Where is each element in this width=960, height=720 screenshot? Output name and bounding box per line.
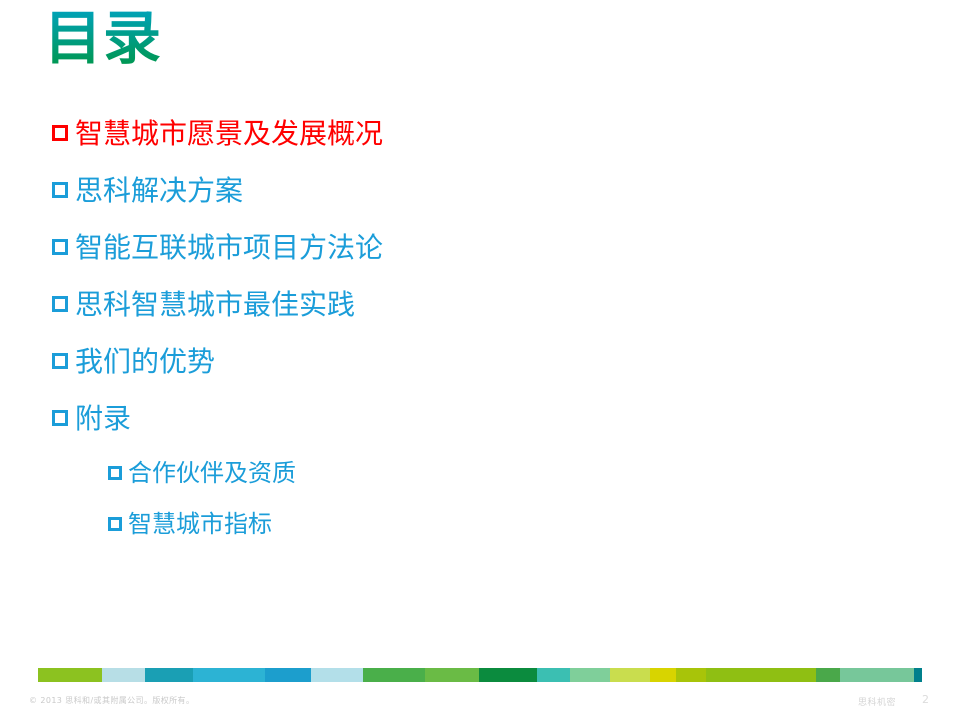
color-strip-block — [193, 668, 265, 682]
confidentiality-label: 思科机密 — [858, 697, 896, 709]
hollow-square-bullet-icon — [52, 410, 68, 426]
hollow-square-bullet-icon — [108, 466, 122, 480]
color-strip-block — [706, 668, 816, 682]
page-number: 2 — [922, 693, 929, 707]
color-strip-block — [840, 668, 914, 682]
color-strip-block — [816, 668, 840, 682]
toc-subitem[interactable]: 智慧城市指标 — [108, 511, 912, 538]
color-strip-block — [479, 668, 537, 682]
presentation-slide: 目录 智慧城市愿景及发展概况 思科解决方案 智能互联城市项目方法论 思科智慧城市… — [0, 0, 960, 720]
toc-item-label: 我们的优势 — [75, 346, 215, 377]
hollow-square-bullet-icon — [52, 182, 68, 198]
toc-item[interactable]: 智慧城市愿景及发展概况 — [52, 118, 912, 149]
hollow-square-bullet-icon — [108, 517, 122, 531]
toc-item[interactable]: 思科解决方案 — [52, 175, 912, 206]
toc-item-label: 智能互联城市项目方法论 — [75, 232, 383, 263]
color-strip-block — [914, 668, 922, 682]
color-strip-block — [425, 668, 479, 682]
page-title: 目录 — [44, 4, 162, 72]
toc-item[interactable]: 我们的优势 — [52, 346, 912, 377]
color-strip-block — [570, 668, 610, 682]
table-of-contents: 智慧城市愿景及发展概况 思科解决方案 智能互联城市项目方法论 思科智慧城市最佳实… — [52, 118, 912, 562]
hollow-square-bullet-icon — [52, 353, 68, 369]
toc-item[interactable]: 智能互联城市项目方法论 — [52, 232, 912, 263]
toc-item-label: 智慧城市愿景及发展概况 — [75, 118, 383, 149]
color-strip-block — [363, 668, 425, 682]
toc-subitem-label: 合作伙伴及资质 — [128, 460, 296, 487]
color-strip-block — [145, 668, 193, 682]
toc-item[interactable]: 附录 — [52, 403, 912, 434]
toc-item-label: 附录 — [75, 403, 131, 434]
footer-color-strip — [38, 668, 922, 682]
hollow-square-bullet-icon — [52, 239, 68, 255]
copyright-text: © 2013 思科和/或其附属公司。版权所有。 — [29, 695, 194, 707]
hollow-square-bullet-icon — [52, 296, 68, 312]
toc-item-label: 思科解决方案 — [75, 175, 243, 206]
color-strip-block — [102, 668, 145, 682]
color-strip-block — [265, 668, 311, 682]
toc-item[interactable]: 思科智慧城市最佳实践 — [52, 289, 912, 320]
color-strip-block — [311, 668, 363, 682]
color-strip-block — [537, 668, 570, 682]
toc-item-label: 思科智慧城市最佳实践 — [75, 289, 355, 320]
color-strip-block — [676, 668, 706, 682]
color-strip-block — [650, 668, 676, 682]
toc-subitem-label: 智慧城市指标 — [128, 511, 272, 538]
hollow-square-bullet-icon — [52, 125, 68, 141]
color-strip-block — [38, 668, 102, 682]
toc-subitem[interactable]: 合作伙伴及资质 — [108, 460, 912, 487]
color-strip-block — [610, 668, 650, 682]
